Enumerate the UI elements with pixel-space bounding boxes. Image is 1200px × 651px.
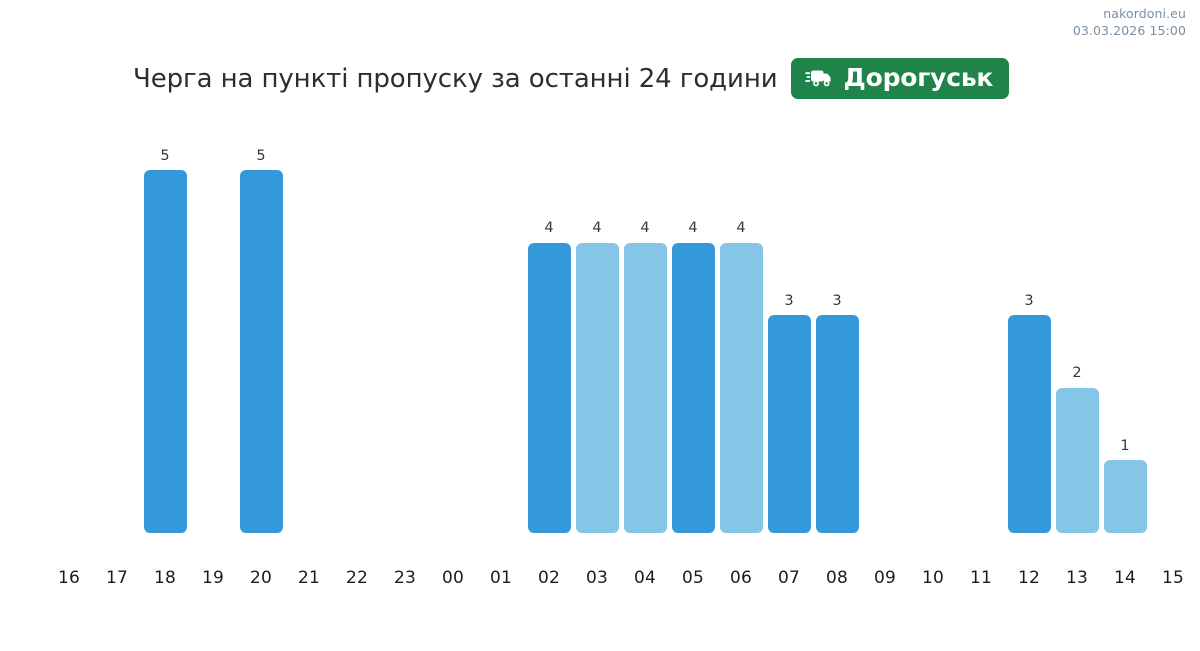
- bar-slot-16[interactable]: [45, 113, 93, 533]
- bar-slot-08[interactable]: 3: [813, 113, 861, 533]
- bar-slot-13[interactable]: 2: [1053, 113, 1101, 533]
- x-axis-tick-09: 09: [861, 568, 909, 588]
- bar[interactable]: [816, 315, 859, 533]
- bar-slot-05[interactable]: 4: [669, 113, 717, 533]
- bar[interactable]: [528, 243, 571, 533]
- bar-slot-07[interactable]: 3: [765, 113, 813, 533]
- x-axis-tick-14: 14: [1101, 568, 1149, 588]
- bar[interactable]: [768, 315, 811, 533]
- x-axis-tick-10: 10: [909, 568, 957, 588]
- bar-value-label: 4: [544, 221, 553, 236]
- x-axis-tick-06: 06: [717, 568, 765, 588]
- bar-slot-15[interactable]: [1149, 113, 1197, 533]
- x-axis-tick-12: 12: [1005, 568, 1053, 588]
- bar-value-label: 5: [160, 149, 169, 164]
- bar-slot-02[interactable]: 4: [525, 113, 573, 533]
- x-axis-tick-05: 05: [669, 568, 717, 588]
- x-axis-tick-03: 03: [573, 568, 621, 588]
- x-axis-tick-17: 17: [93, 568, 141, 588]
- bar-slot-22[interactable]: [333, 113, 381, 533]
- bar-slot-20[interactable]: 5: [237, 113, 285, 533]
- bar-slot-11[interactable]: [957, 113, 1005, 533]
- bar-slot-01[interactable]: [477, 113, 525, 533]
- bar[interactable]: [1008, 315, 1051, 533]
- x-axis-tick-15: 15: [1149, 568, 1197, 588]
- bar-slot-18[interactable]: 5: [141, 113, 189, 533]
- bar-slot-10[interactable]: [909, 113, 957, 533]
- bar-slot-17[interactable]: [93, 113, 141, 533]
- bar-value-label: 5: [256, 149, 265, 164]
- bar-slot-21[interactable]: [285, 113, 333, 533]
- x-axis-tick-19: 19: [189, 568, 237, 588]
- bar-slot-03[interactable]: 4: [573, 113, 621, 533]
- bar[interactable]: [1104, 460, 1147, 533]
- bar[interactable]: [576, 243, 619, 533]
- bar-value-label: 4: [640, 221, 649, 236]
- bar-value-label: 1: [1120, 439, 1129, 454]
- bar-slot-04[interactable]: 4: [621, 113, 669, 533]
- x-axis-tick-00: 00: [429, 568, 477, 588]
- bar[interactable]: [1056, 388, 1099, 533]
- x-axis-tick-08: 08: [813, 568, 861, 588]
- bar-slot-00[interactable]: [429, 113, 477, 533]
- chart-plot-area: 1617518195202122230001402403404405406307…: [0, 0, 1200, 651]
- bar-value-label: 2: [1072, 366, 1081, 381]
- x-axis-tick-04: 04: [621, 568, 669, 588]
- x-axis-tick-22: 22: [333, 568, 381, 588]
- bar-value-label: 4: [592, 221, 601, 236]
- bar-slot-09[interactable]: [861, 113, 909, 533]
- bar-value-label: 3: [832, 294, 841, 309]
- bar-slot-23[interactable]: [381, 113, 429, 533]
- bar-slot-14[interactable]: 1: [1101, 113, 1149, 533]
- x-axis-tick-18: 18: [141, 568, 189, 588]
- x-axis-tick-01: 01: [477, 568, 525, 588]
- queue-bar-chart: 1617518195202122230001402403404405406307…: [0, 0, 1200, 651]
- bar-value-label: 4: [736, 221, 745, 236]
- bar[interactable]: [624, 243, 667, 533]
- x-axis-tick-23: 23: [381, 568, 429, 588]
- bar-value-label: 3: [784, 294, 793, 309]
- bar-slot-06[interactable]: 4: [717, 113, 765, 533]
- bar[interactable]: [720, 243, 763, 533]
- bar-slot-19[interactable]: [189, 113, 237, 533]
- bar-slot-12[interactable]: 3: [1005, 113, 1053, 533]
- x-axis-tick-21: 21: [285, 568, 333, 588]
- x-axis-tick-20: 20: [237, 568, 285, 588]
- x-axis-tick-07: 07: [765, 568, 813, 588]
- bar[interactable]: [144, 170, 187, 533]
- bar[interactable]: [240, 170, 283, 533]
- bar[interactable]: [672, 243, 715, 533]
- x-axis-tick-02: 02: [525, 568, 573, 588]
- x-axis-tick-13: 13: [1053, 568, 1101, 588]
- bar-value-label: 3: [1024, 294, 1033, 309]
- x-axis-tick-11: 11: [957, 568, 1005, 588]
- bar-value-label: 4: [688, 221, 697, 236]
- x-axis-tick-16: 16: [45, 568, 93, 588]
